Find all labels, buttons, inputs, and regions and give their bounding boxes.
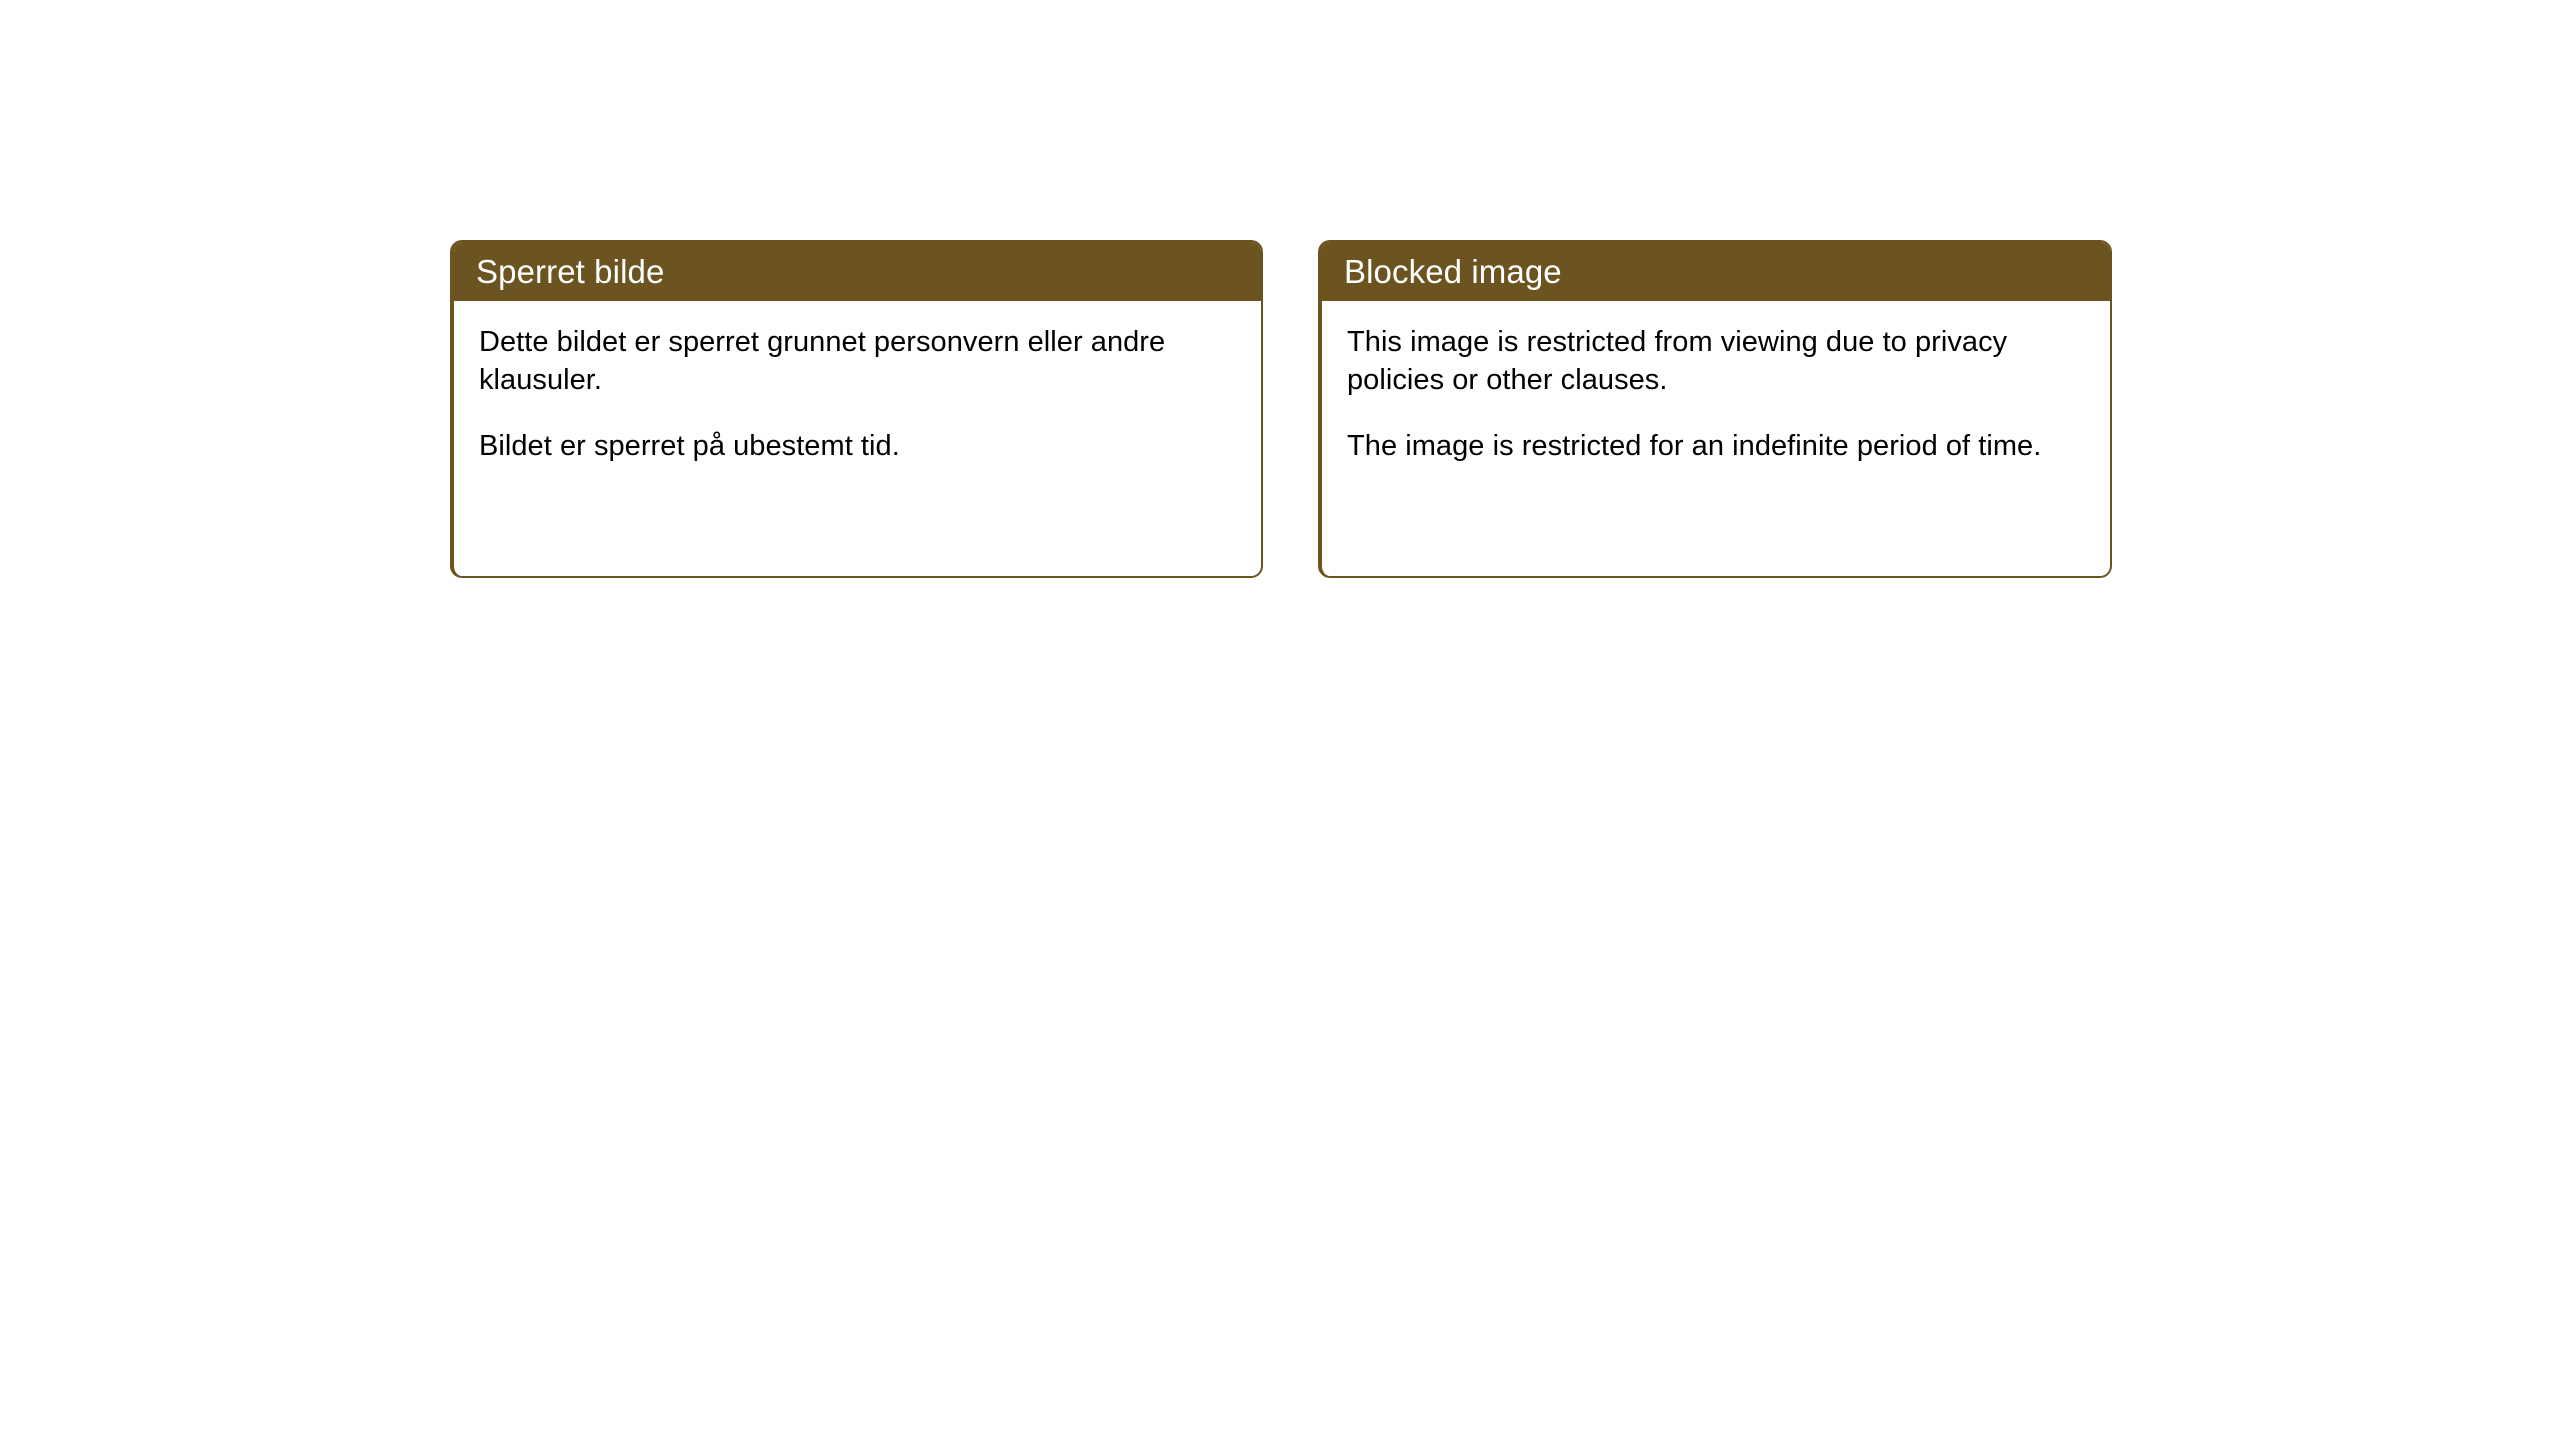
card-paragraph-primary-english: This image is restricted from viewing du… <box>1347 323 2086 400</box>
card-title-norwegian: Sperret bilde <box>476 255 664 288</box>
card-header-english: Blocked image <box>1321 241 2111 301</box>
card-header-norwegian: Sperret bilde <box>453 241 1262 301</box>
blocked-image-notice-area: Sperret bilde Dette bildet er sperret gr… <box>450 240 2112 578</box>
card-body-english: This image is restricted from viewing du… <box>1322 301 2110 465</box>
card-paragraph-primary-norwegian: Dette bildet er sperret grunnet personve… <box>479 323 1237 400</box>
card-paragraph-secondary-norwegian: Bildet er sperret på ubestemt tid. <box>479 427 1237 465</box>
blocked-image-card-english: Blocked image This image is restricted f… <box>1318 240 2112 578</box>
card-paragraph-secondary-english: The image is restricted for an indefinit… <box>1347 427 2086 465</box>
card-body-norwegian: Dette bildet er sperret grunnet personve… <box>454 301 1261 465</box>
blocked-image-card-norwegian: Sperret bilde Dette bildet er sperret gr… <box>450 240 1263 578</box>
card-title-english: Blocked image <box>1344 255 1562 288</box>
